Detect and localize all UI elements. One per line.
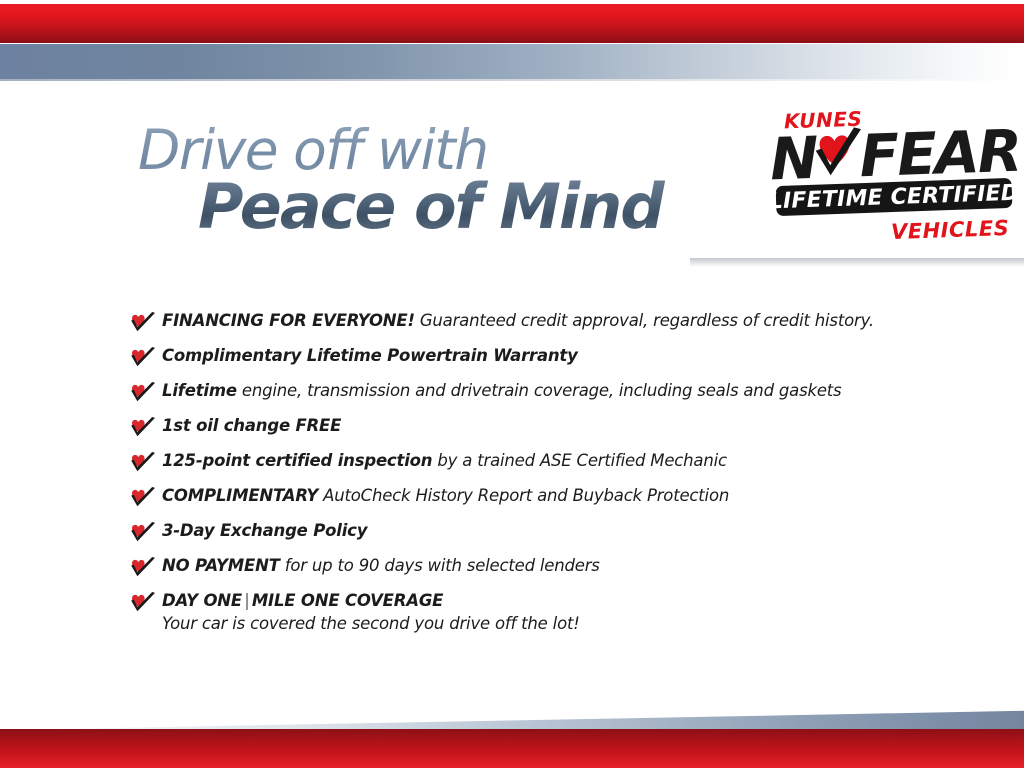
heart-check-icon (130, 522, 156, 542)
list-item-bold: Lifetime (162, 381, 237, 400)
list-item-bold: 125-point certified inspection (162, 451, 432, 470)
list-item: Complimentary Lifetime Powertrain Warran… (130, 345, 930, 367)
benefits-list: FINANCING FOR EVERYONE! Guaranteed credi… (130, 310, 930, 647)
list-item-text: 3-Day Exchange Policy (162, 520, 367, 541)
heart-check-icon (130, 382, 156, 402)
list-item-bold-2: MILE ONE COVERAGE (252, 591, 443, 610)
heart-check-icon (130, 487, 156, 507)
list-item-bold: Complimentary Lifetime Powertrain Warran… (162, 346, 578, 365)
list-item-text: 1st oil change FREE (162, 415, 341, 436)
list-item-bold: 3-Day Exchange Policy (162, 521, 367, 540)
list-item-bold: COMPLIMENTARY (162, 486, 318, 505)
heart-check-icon (130, 557, 156, 577)
list-item: DAY ONE|MILE ONE COVERAGE Your car is co… (130, 590, 930, 634)
headline-block: Drive off with Peace of Mind (138, 122, 738, 239)
list-item: COMPLIMENTARY AutoCheck History Report a… (130, 485, 930, 507)
heart-check-icon (130, 417, 156, 437)
logo-bar-text: LIFETIME CERTIFIED (768, 180, 1019, 214)
list-item-bold: 1st oil change FREE (162, 416, 341, 435)
list-item-rest: AutoCheck History Report and Buyback Pro… (318, 486, 729, 505)
top-gray-gradient-band (0, 44, 1024, 79)
list-item-text: 125-point certified inspection by a trai… (162, 450, 727, 471)
list-item: Lifetime engine, transmission and drivet… (130, 380, 930, 402)
headline-line-2: Peace of Mind (198, 174, 738, 239)
top-red-band (0, 4, 1024, 43)
logo-word-vehicles: VEHICLES (890, 216, 1009, 244)
heart-check-icon (130, 452, 156, 472)
heart-check-icon (130, 592, 156, 612)
list-item-text: FINANCING FOR EVERYONE! Guaranteed credi… (162, 310, 874, 331)
poster-canvas: Drive off with Peace of Mind KUNES N FEA… (0, 0, 1024, 768)
list-item-text: COMPLIMENTARY AutoCheck History Report a… (162, 485, 729, 506)
list-item: FINANCING FOR EVERYONE! Guaranteed credi… (130, 310, 930, 332)
bottom-gray-gradient-band (0, 690, 1024, 730)
bottom-red-band (0, 729, 1024, 768)
logo-word-fear: FEAR (859, 122, 1022, 186)
headline-divider (690, 258, 1024, 267)
list-item-subtext: Your car is covered the second you drive… (162, 613, 580, 634)
list-item-text: Lifetime engine, transmission and drivet… (162, 380, 841, 401)
list-item: 1st oil change FREE (130, 415, 930, 437)
list-item-rest: engine, transmission and drivetrain cove… (237, 381, 842, 400)
list-item: 3-Day Exchange Policy (130, 520, 930, 542)
kunes-no-fear-logo: KUNES N FEAR LIFETIME CERTIFIED VEHICLES (770, 108, 1015, 248)
heart-check-icon (809, 127, 869, 189)
list-item-rest: for up to 90 days with selected lenders (280, 556, 600, 575)
heart-check-icon (130, 347, 156, 367)
list-item-text: Complimentary Lifetime Powertrain Warran… (162, 345, 578, 366)
heart-check-icon (130, 312, 156, 332)
list-item: 125-point certified inspection by a trai… (130, 450, 930, 472)
list-item: NO PAYMENT for up to 90 days with select… (130, 555, 930, 577)
list-item-bold: DAY ONE (162, 591, 242, 610)
list-item-bold: FINANCING FOR EVERYONE! (162, 311, 415, 330)
list-item-text: DAY ONE|MILE ONE COVERAGE Your car is co… (162, 590, 580, 634)
list-item-bold: NO PAYMENT (162, 556, 280, 575)
list-item-text: NO PAYMENT for up to 90 days with select… (162, 555, 600, 576)
list-item-rest: by a trained ASE Certified Mechanic (432, 451, 727, 470)
list-item-rest: Guaranteed credit approval, regardless o… (415, 311, 874, 330)
list-item-separator: | (242, 591, 252, 610)
